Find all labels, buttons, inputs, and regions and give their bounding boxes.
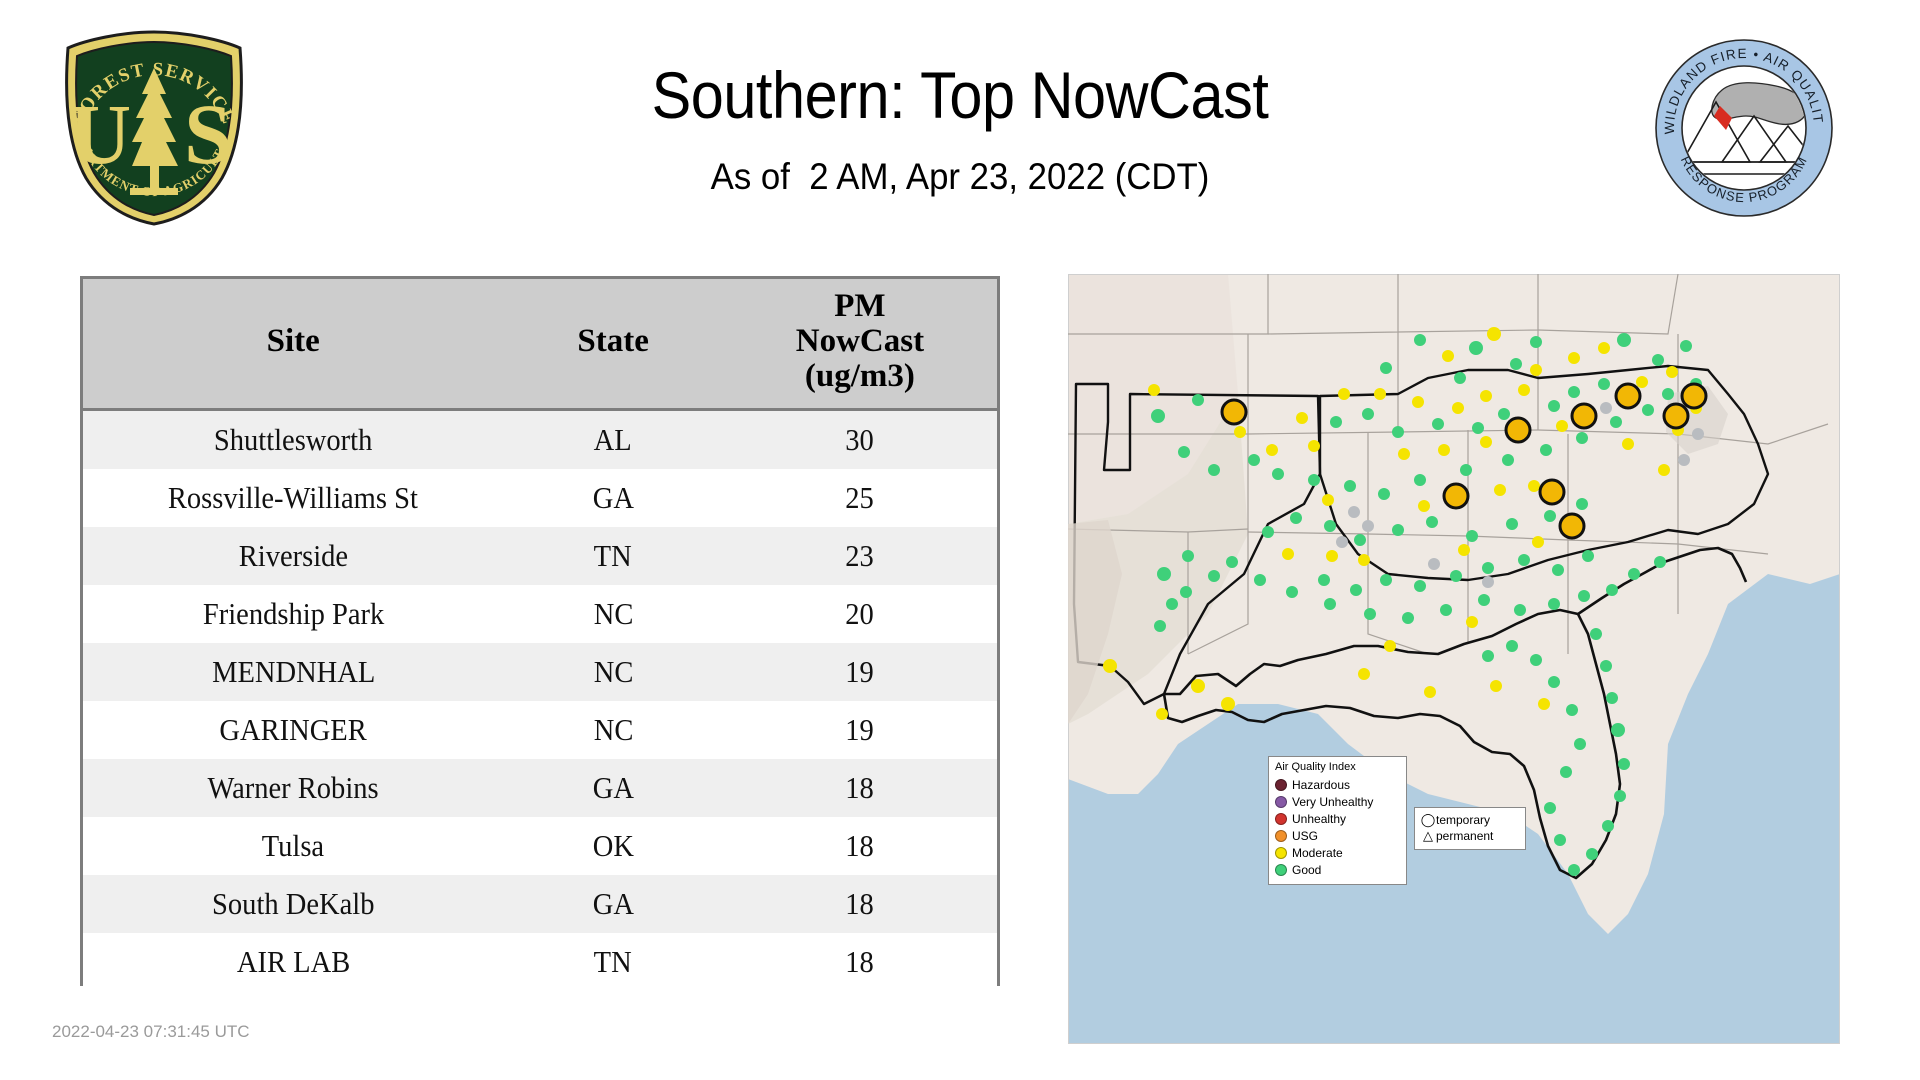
column-header-pm-nowcast: PM NowCast (ug/m3)	[723, 279, 997, 410]
pm-header-line-3: (ug/m3)	[723, 359, 997, 394]
table-cell-site: MENDNHAL	[83, 643, 503, 701]
aqi-legend-items: HazardousVery UnhealthyUnhealthyUSGModer…	[1275, 776, 1401, 878]
table-row[interactable]: RiversideTN23	[83, 527, 997, 585]
map-canvas[interactable]	[1068, 274, 1840, 1044]
aqi-color-swatch-icon	[1275, 830, 1287, 842]
triangle-icon: △	[1420, 828, 1436, 844]
table-body: ShuttlesworthAL30Rossville-Williams StGA…	[83, 410, 997, 992]
aqi-legend-row: Very Unhealthy	[1275, 793, 1401, 810]
table-cell-state: NC	[503, 643, 722, 701]
table-row[interactable]: TulsaOK18	[83, 817, 997, 875]
table-row[interactable]: AIR LABTN18	[83, 933, 997, 991]
aqi-legend-row: USG	[1275, 827, 1401, 844]
table-cell-pm: 18	[723, 933, 997, 991]
table-cell-state: AL	[503, 410, 722, 470]
aqi-legend-title: Air Quality Index	[1275, 761, 1401, 773]
air-quality-monitor-map[interactable]: Air Quality Index HazardousVery Unhealth…	[1068, 274, 1840, 1044]
table-cell-site: Rossville-Williams St	[83, 469, 503, 527]
table-cell-state: GA	[503, 759, 722, 817]
symbol-legend-label-permanent: permanent	[1436, 829, 1493, 843]
generated-timestamp: 2022-04-23 07:31:45 UTC	[52, 1022, 250, 1042]
table-row[interactable]: GARINGERNC19	[83, 701, 997, 759]
table-cell-pm: 18	[723, 875, 997, 933]
table-cell-site: Friendship Park	[83, 585, 503, 643]
table-cell-state: OK	[503, 817, 722, 875]
table-cell-pm: 25	[723, 469, 997, 527]
table-cell-pm: 30	[723, 410, 997, 470]
table-cell-state: TN	[503, 933, 722, 991]
table-cell-pm: 20	[723, 585, 997, 643]
aqi-color-swatch-icon	[1275, 779, 1287, 791]
column-header-site: Site	[83, 279, 503, 410]
table-cell-pm: 18	[723, 817, 997, 875]
column-header-state: State	[503, 279, 722, 410]
aqi-legend-label: Very Unhealthy	[1292, 795, 1373, 809]
page-title: Southern: Top NowCast	[96, 60, 1824, 130]
table-row[interactable]: MENDNHALNC19	[83, 643, 997, 701]
table-cell-pm: 19	[723, 701, 997, 759]
aqi-legend: Air Quality Index HazardousVery Unhealth…	[1268, 756, 1407, 885]
aqi-legend-row: Good	[1275, 861, 1401, 878]
aqi-legend-label: Moderate	[1292, 846, 1343, 860]
table-cell-state: TN	[503, 527, 722, 585]
table-head: Site State PM NowCast (ug/m3)	[83, 279, 997, 410]
table-header-row: Site State PM NowCast (ug/m3)	[83, 279, 997, 410]
table-cell-site: Riverside	[83, 527, 503, 585]
aqi-legend-label: Good	[1292, 863, 1321, 877]
aqi-legend-row: Moderate	[1275, 844, 1401, 861]
pm-header-line-1: PM	[723, 289, 997, 324]
table-row[interactable]: South DeKalbGA18	[83, 875, 997, 933]
nowcast-table-container: Site State PM NowCast (ug/m3) Shuttleswo…	[80, 276, 1000, 986]
aqi-legend-label: USG	[1292, 829, 1318, 843]
symbol-legend-row-permanent: △ permanent	[1420, 828, 1520, 844]
table-cell-site: Tulsa	[83, 817, 503, 875]
table-cell-site: Shuttlesworth	[83, 410, 503, 470]
aqi-color-swatch-icon	[1275, 813, 1287, 825]
table-row[interactable]: Rossville-Williams StGA25	[83, 469, 997, 527]
page-subtitle: As of 2 AM, Apr 23, 2022 (CDT)	[58, 155, 1863, 199]
symbol-legend-row-temporary: ◯ temporary	[1420, 812, 1520, 828]
symbol-legend: ◯ temporary △ permanent	[1414, 807, 1526, 850]
circle-icon: ◯	[1420, 812, 1436, 828]
nowcast-table: Site State PM NowCast (ug/m3) Shuttleswo…	[83, 279, 997, 991]
aqi-color-swatch-icon	[1275, 847, 1287, 859]
aqi-legend-row: Unhealthy	[1275, 810, 1401, 827]
aqi-color-swatch-icon	[1275, 796, 1287, 808]
table-cell-site: GARINGER	[83, 701, 503, 759]
aqi-legend-label: Hazardous	[1292, 778, 1350, 792]
slide-canvas: FOREST SERVICE DEPARTMENT OF AGRICULTURE…	[0, 0, 1920, 1080]
table-row[interactable]: Warner RobinsGA18	[83, 759, 997, 817]
table-cell-state: NC	[503, 701, 722, 759]
table-cell-state: NC	[503, 585, 722, 643]
table-row[interactable]: Friendship ParkNC20	[83, 585, 997, 643]
aqi-legend-label: Unhealthy	[1292, 812, 1346, 826]
table-cell-pm: 19	[723, 643, 997, 701]
table-cell-site: AIR LAB	[83, 933, 503, 991]
table-row[interactable]: ShuttlesworthAL30	[83, 410, 997, 470]
pm-header-line-2: NowCast	[723, 324, 997, 359]
table-cell-pm: 18	[723, 759, 997, 817]
table-cell-pm: 23	[723, 527, 997, 585]
aqi-color-swatch-icon	[1275, 864, 1287, 876]
table-cell-site: South DeKalb	[83, 875, 503, 933]
table-cell-state: GA	[503, 875, 722, 933]
aqi-legend-row: Hazardous	[1275, 776, 1401, 793]
table-cell-state: GA	[503, 469, 722, 527]
table-cell-site: Warner Robins	[83, 759, 503, 817]
symbol-legend-label-temporary: temporary	[1436, 813, 1490, 827]
